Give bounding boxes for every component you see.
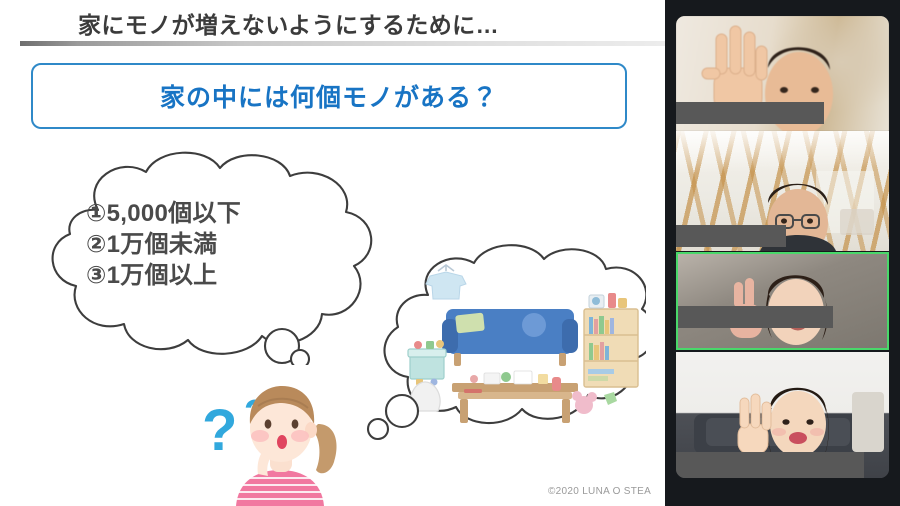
answer-option: ①5,000個以下 bbox=[86, 198, 346, 229]
thinking-woman-illustration bbox=[200, 378, 360, 506]
answer-options-list: ①5,000個以下 ②1万個未満 ③1万個以上 bbox=[86, 198, 346, 292]
copyright-notice: ©2020 LUNA O STEA bbox=[548, 486, 651, 497]
answer-option: ②1万個未満 bbox=[86, 229, 346, 260]
participant-name-redaction bbox=[678, 306, 833, 328]
stuffed-toy-illustration bbox=[572, 391, 617, 414]
slide-area: 家にモノが増えないようにするために… 家の中には何個モノがある？ ①5,000個… bbox=[0, 0, 665, 506]
participant-name-redaction bbox=[676, 452, 864, 478]
video-tile-participant-4[interactable] bbox=[676, 352, 889, 478]
participant-name-redaction bbox=[676, 225, 786, 247]
answer-option: ③1万個以上 bbox=[86, 260, 346, 291]
thought-bubble-room bbox=[356, 243, 646, 448]
thought-bubble-answers: ①5,000個以下 ②1万個未満 ③1万個以上 bbox=[24, 150, 394, 365]
video-tile-participant-1[interactable] bbox=[676, 16, 889, 131]
page-title: 家にモノが増えないようにするために… bbox=[78, 6, 499, 40]
video-tile-participant-3[interactable] bbox=[676, 252, 889, 350]
participant-name-redaction bbox=[676, 102, 824, 124]
question-box: 家の中には何個モノがある？ bbox=[31, 63, 627, 129]
presentation-screen: 家にモノが増えないようにするために… 家の中には何個モノがある？ ①5,000個… bbox=[0, 0, 900, 506]
video-conference-panel: POLUS bbox=[665, 0, 900, 506]
question-box-text: 家の中には何個モノがある？ bbox=[160, 78, 498, 114]
video-tile-participant-2[interactable]: POLUS bbox=[676, 131, 889, 251]
title-divider bbox=[20, 41, 665, 46]
